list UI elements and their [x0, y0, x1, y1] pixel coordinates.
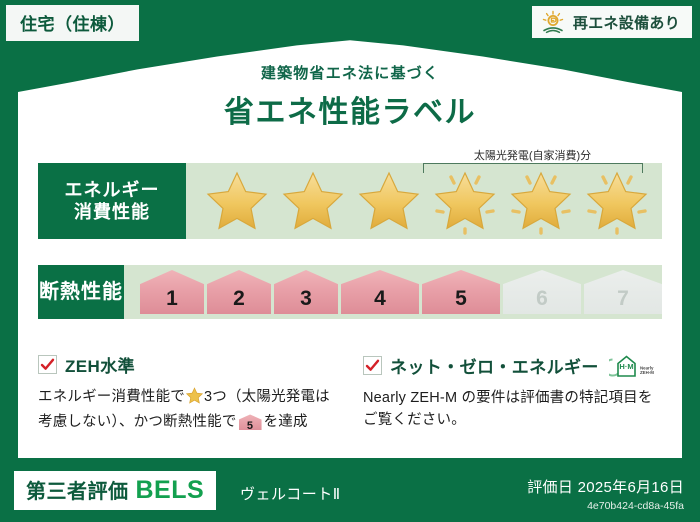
feature-zeh-body: エネルギー消費性能で3つ（太陽光発電は考慮しない）、かつ断熱性能で5を達成 — [38, 386, 337, 434]
feature-zeh-standard: ZEH水準 エネルギー消費性能で3つ（太陽光発電は考慮しない）、かつ断熱性能で5… — [38, 352, 337, 434]
bels-badge-jp: 第三者評価 — [26, 475, 129, 504]
title-subtitle: 建築物省エネ法に基づく — [0, 62, 700, 83]
zeh-m-logo-icon: H·M Nearly ZEH-M — [607, 352, 655, 378]
star-base — [200, 167, 274, 235]
renewable-energy-badge: 再エネ設備あり — [532, 6, 692, 38]
insulation-performance-value: 1234567 — [124, 265, 662, 319]
feature-columns: ZEH水準 エネルギー消費性能で3つ（太陽光発電は考慮しない）、かつ断熱性能で5… — [38, 352, 662, 434]
insulation-level-3: 3 — [274, 270, 338, 314]
page-title: 省エネ性能ラベル — [0, 87, 700, 131]
insulation-level-number: 1 — [166, 287, 178, 311]
bels-badge: 第三者評価 BELS — [14, 471, 216, 510]
title-block: 建築物省エネ法に基づく 省エネ性能ラベル — [0, 62, 700, 131]
category-badge: 住宅（住棟） — [6, 5, 139, 41]
evaluation-date: 評価日 2025年6月16日 — [527, 476, 684, 497]
renewable-energy-label: 再エネ設備あり — [573, 12, 680, 33]
energy-performance-value — [186, 163, 662, 239]
energy-performance-row: エネルギー 消費性能 — [38, 163, 662, 239]
building-name: ヴェルコートⅡ — [240, 483, 341, 504]
insulation-level-5: 5 — [422, 270, 500, 314]
insulation-level-number: 4 — [374, 287, 386, 311]
insulation-performance-key: 断熱性能 — [38, 265, 124, 319]
feature-zeh-title: ZEH水準 — [65, 352, 135, 377]
feature-zeh-header: ZEH水準 — [38, 352, 337, 377]
insulation-level-number: 2 — [233, 287, 245, 311]
checkmark-icon — [363, 356, 382, 375]
insulation-level-number: 3 — [300, 287, 312, 311]
energy-label-root: 住宅（住棟） 再エネ設備あり 建築物省エネ法に基づく 省エネ性能ラベル — [0, 0, 700, 522]
feature-net-zero-energy: ネット・ゼロ・エネルギー H·M Nearly ZEH-M Nearly ZEH… — [363, 352, 662, 434]
feature-zeh-body-post: を達成 — [264, 414, 308, 430]
category-badge-label: 住宅（住棟） — [20, 15, 125, 34]
sun-icon — [540, 10, 566, 34]
star-rating — [200, 167, 654, 235]
inline-house-badge: 5 — [239, 414, 262, 430]
star-base — [352, 167, 426, 235]
energy-key-line1: エネルギー — [65, 179, 160, 202]
star-solar — [428, 167, 502, 235]
feature-nze-title: ネット・ゼロ・エネルギー — [390, 353, 599, 378]
feature-nze-body: Nearly ZEH-M の要件は評価書の特記項目をご覧ください。 — [363, 387, 662, 432]
insulation-level-number: 5 — [455, 287, 467, 311]
insulation-level-scale: 1234567 — [140, 270, 662, 314]
bels-badge-en: BELS — [136, 476, 205, 505]
insulation-level-number: 7 — [617, 287, 629, 311]
svg-text:ZEH-M: ZEH-M — [640, 370, 654, 375]
insulation-level-2: 2 — [207, 270, 271, 314]
insulation-performance-row: 断熱性能 1234567 — [38, 265, 662, 319]
energy-performance-key: エネルギー 消費性能 — [38, 163, 186, 239]
inline-star-icon — [186, 387, 203, 411]
feature-nze-header: ネット・ゼロ・エネルギー H·M Nearly ZEH-M — [363, 352, 662, 378]
footer: 第三者評価 BELS ヴェルコートⅡ 評価日 2025年6月16日 4e70b4… — [0, 460, 700, 522]
star-solar — [580, 167, 654, 235]
insulation-level-7: 7 — [584, 270, 662, 314]
svg-text:H·M: H·M — [619, 362, 633, 371]
star-solar — [504, 167, 578, 235]
evaluation-id: 4e70b424-cd8a-45fa — [527, 500, 684, 512]
insulation-level-6: 6 — [503, 270, 581, 314]
insulation-level-number: 6 — [536, 287, 548, 311]
checkmark-icon — [38, 355, 57, 374]
star-base — [276, 167, 350, 235]
feature-zeh-body-pre: エネルギー消費性能で — [38, 389, 185, 405]
insulation-key-label: 断熱性能 — [39, 280, 123, 305]
energy-key-line2: 消費性能 — [74, 201, 150, 224]
insulation-level-1: 1 — [140, 270, 204, 314]
footer-meta: 評価日 2025年6月16日 4e70b424-cd8a-45fa — [527, 476, 684, 512]
inline-house-number: 5 — [247, 420, 253, 432]
insulation-level-4: 4 — [341, 270, 419, 314]
